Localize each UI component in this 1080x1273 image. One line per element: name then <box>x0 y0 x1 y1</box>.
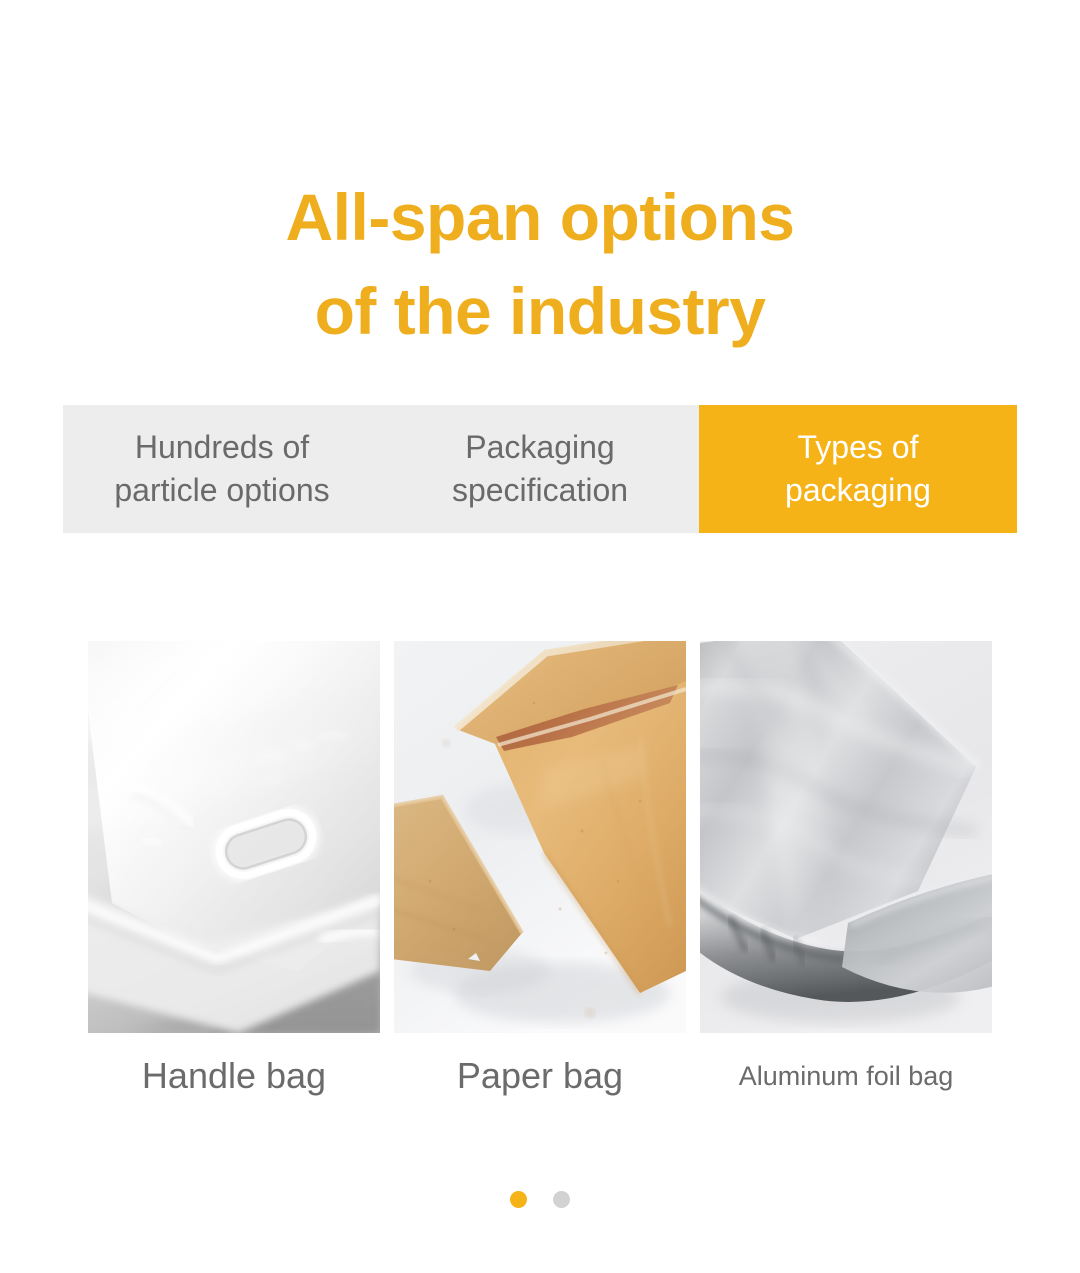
page-title-line-1: All-span options <box>0 170 1080 264</box>
gallery-card-caption: Paper bag <box>394 1053 686 1099</box>
product-gallery: Handle bag <box>88 641 992 1099</box>
tab-types-of-packaging[interactable]: Types of packaging <box>699 405 1017 533</box>
pagination-dot-1[interactable] <box>510 1191 527 1208</box>
carousel-pagination <box>0 1191 1080 1208</box>
paper-bag-photo[interactable] <box>394 641 686 1033</box>
tab-hundreds-of-particle-options[interactable]: Hundreds of particle options <box>63 405 381 533</box>
page-title-line-2: of the industry <box>0 264 1080 358</box>
handle-bag-photo[interactable] <box>88 641 380 1033</box>
tab-bar: Hundreds of particle options Packaging s… <box>63 405 1017 533</box>
page-title: All-span options of the industry <box>0 170 1080 358</box>
tab-label: Hundreds of particle options <box>114 426 329 512</box>
tab-packaging-specification[interactable]: Packaging specification <box>381 405 699 533</box>
pagination-dot-2[interactable] <box>553 1191 570 1208</box>
tab-label: Packaging specification <box>452 426 628 512</box>
tab-label: Types of packaging <box>785 426 931 512</box>
gallery-card-caption: Aluminum foil bag <box>700 1053 992 1099</box>
gallery-card-handle-bag[interactable]: Handle bag <box>88 641 380 1099</box>
aluminum-foil-bag-photo[interactable] <box>700 641 992 1033</box>
gallery-card-paper-bag[interactable]: Paper bag <box>394 641 686 1099</box>
gallery-card-caption: Handle bag <box>88 1053 380 1099</box>
gallery-card-aluminum-foil-bag[interactable]: Aluminum foil bag <box>700 641 992 1099</box>
